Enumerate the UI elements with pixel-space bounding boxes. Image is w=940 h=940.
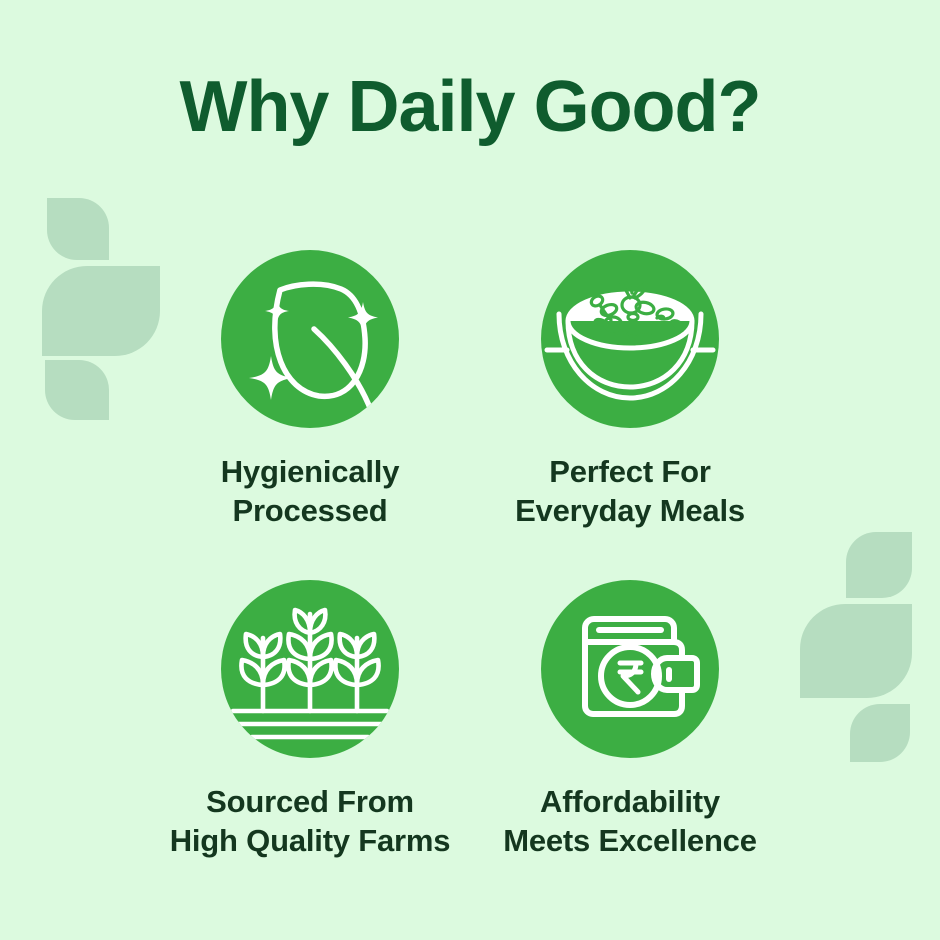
page-title: Why Daily Good? (0, 70, 940, 146)
feature-icon-badge (541, 580, 719, 758)
poster-canvas: Why Daily Good? (0, 0, 940, 940)
soup-bowl-icon (541, 250, 719, 428)
feature-item-hygienically-processed: Hygienically Processed (150, 250, 470, 530)
feature-grid: Hygienically Processed (0, 250, 940, 860)
feature-label: Affordability Meets Excellence (503, 782, 757, 860)
feature-label: Hygienically Processed (221, 452, 400, 530)
feature-row: Sourced From High Quality Farms (0, 580, 940, 860)
feature-item-sourced-from-high-quality-farms: Sourced From High Quality Farms (150, 580, 470, 860)
wallet-rupee-icon (541, 580, 719, 758)
feature-item-affordability-meets-excellence: Affordability Meets Excellence (470, 580, 790, 860)
feature-label: Perfect For Everyday Meals (515, 452, 745, 530)
feature-icon-badge (221, 250, 399, 428)
feature-icon-badge (221, 580, 399, 758)
feature-row: Hygienically Processed (0, 250, 940, 530)
crop-plants-farm-icon (221, 580, 399, 758)
leaf-sparkle-icon (221, 250, 399, 428)
feature-label: Sourced From High Quality Farms (170, 782, 451, 860)
feature-icon-badge (541, 250, 719, 428)
feature-item-perfect-for-everyday-meals: Perfect For Everyday Meals (470, 250, 790, 530)
